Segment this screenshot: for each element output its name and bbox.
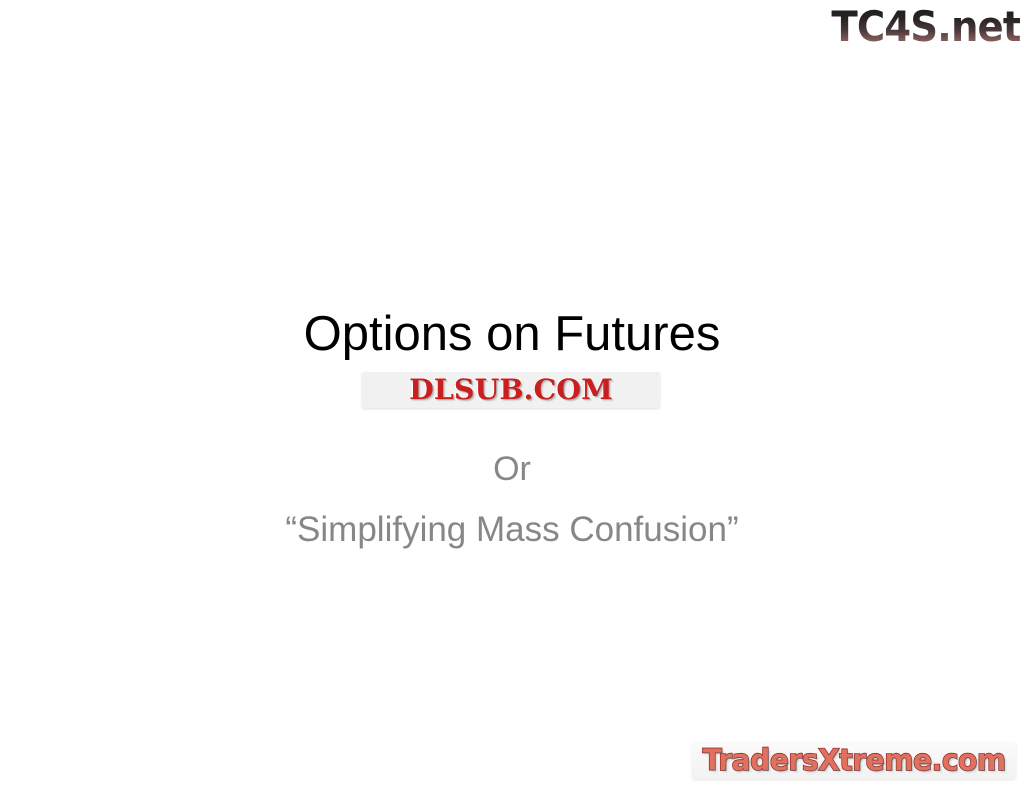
tradersxtreme-watermark: TradersXtreme.com — [692, 742, 1016, 779]
slide-subtitle-block: Or “Simplifying Mass Confusion” — [0, 452, 1024, 547]
tc4s-watermark: TC4S.net — [815, 2, 1020, 52]
subtitle-line-or: Or — [0, 452, 1024, 486]
dlsub-watermark: DLSUB.COM — [362, 372, 660, 408]
tc4s-watermark-text: TC4S.net — [831, 6, 1020, 48]
tradersxtreme-watermark-text: TradersXtreme.com — [702, 744, 1005, 777]
slide-title-block: Options on Futures — [0, 308, 1024, 361]
presentation-slide: TC4S.net Options on Futures DLSUB.COM Or… — [0, 0, 1024, 791]
page-title: Options on Futures — [304, 308, 721, 361]
dlsub-watermark-text: DLSUB.COM — [409, 376, 613, 404]
subtitle-line-quote: “Simplifying Mass Confusion” — [0, 512, 1024, 547]
